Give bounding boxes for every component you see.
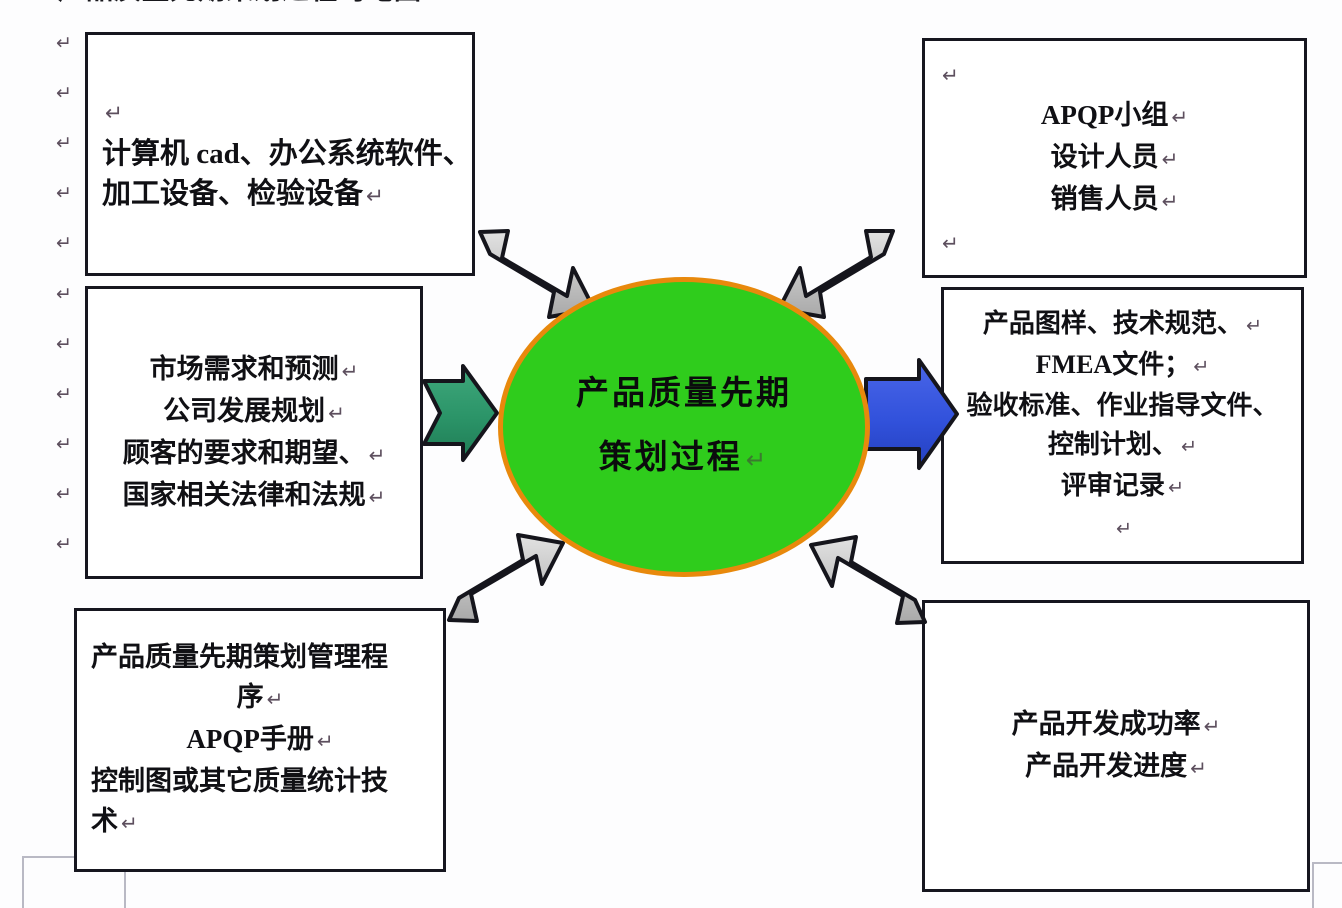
line-text: 产品图样、技术规范、	[983, 309, 1243, 338]
return-mark: ↵	[1187, 756, 1207, 780]
text-line: APQP手册↵	[91, 719, 429, 761]
box-inputs[interactable]: 市场需求和预测↵ 公司发展规划↵ 顾客的要求和期望、↵ 国家相关法律和法规↵	[85, 286, 423, 579]
box-people[interactable]: ↵ APQP小组↵ 设计人员↵ 销售人员↵ ↵	[922, 38, 1307, 278]
return-mark: ↵	[1159, 147, 1179, 171]
line-text: 计算机 cad、办公系统软件、	[102, 138, 472, 170]
return-mark: ↵	[102, 101, 123, 126]
return-mark: ↵	[1178, 435, 1197, 458]
line-text: 产品开发进度	[1025, 751, 1187, 781]
return-mark: ↵	[56, 132, 82, 154]
line-text: APQP小组	[1041, 100, 1169, 130]
line-text: FMEA文件；	[1036, 350, 1191, 379]
text-line: ↵	[939, 53, 1290, 95]
return-mark: ↵	[743, 445, 769, 474]
text-line: 公司发展规划↵	[102, 391, 406, 433]
diagram-canvas: 产品质量先期策划过程乌龟图 ↵ ↵ ↵ ↵ ↵ ↵ ↵ ↵ ↵ ↵ ↵ ↵ 计算…	[0, 0, 1342, 908]
line-text: 验收标准、作业指导文件、	[966, 391, 1278, 420]
return-mark: ↵	[1159, 189, 1179, 213]
line-text: 产品质量先期策划管理程	[91, 642, 388, 672]
return-mark: ↵	[264, 687, 284, 711]
return-mark: ↵	[56, 333, 82, 355]
box-outputs-text: 产品图样、技术规范、↵ FMEA文件；↵ 验收标准、作业指导文件、 控制计划、↵…	[944, 304, 1301, 548]
line-text: APQP手册	[186, 724, 314, 754]
text-line: 验收标准、作业指导文件、	[958, 386, 1287, 425]
line-text: 术	[91, 806, 118, 836]
text-line: 评审记录↵	[958, 466, 1287, 507]
return-mark: ↵	[1201, 714, 1221, 738]
text-line: 加工设备、检验设备↵	[102, 174, 458, 217]
line-text: 市场需求和预测	[150, 354, 339, 384]
return-mark: ↵	[1190, 355, 1209, 378]
return-mark: ↵	[363, 184, 384, 209]
return-mark: ↵	[56, 82, 82, 104]
line-text: 销售人员	[1051, 184, 1159, 214]
text-line: FMEA文件；↵	[958, 345, 1287, 386]
text-line: 控制计划、↵	[958, 425, 1287, 466]
return-mark: ↵	[56, 182, 82, 204]
return-mark: ↵	[56, 232, 82, 254]
box-resources-text: ↵ 计算机 cad、办公系统软件、 加工设备、检验设备↵	[88, 91, 472, 217]
return-mark: ↵	[366, 443, 386, 467]
return-mark: ↵	[56, 433, 82, 455]
text-line: ↵	[958, 507, 1287, 548]
return-mark: ↵	[56, 533, 82, 555]
line-text: 产品开发成功率	[1012, 709, 1201, 739]
return-mark: ↵	[56, 283, 82, 305]
box-measures-text: 产品开发成功率↵ 产品开发进度↵	[925, 704, 1307, 788]
process-ellipse[interactable]: 产品质量先期 策划过程↵	[498, 277, 870, 577]
return-mark: ↵	[1165, 476, 1184, 499]
ellipse-line-1: 产品质量先期	[576, 362, 792, 426]
text-line: 计算机 cad、办公系统软件、	[102, 134, 458, 174]
return-mark: ↵	[56, 383, 82, 405]
text-line: 顾客的要求和期望、↵	[102, 433, 406, 475]
return-mark: ↵	[1168, 105, 1188, 129]
text-line: 序↵	[91, 677, 429, 719]
text-line: 产品开发进度↵	[939, 746, 1293, 788]
box-procedures[interactable]: 产品质量先期策划管理程 序↵ APQP手册↵ 控制图或其它质量统计技 术↵	[74, 608, 446, 872]
box-measures[interactable]: 产品开发成功率↵ 产品开发进度↵	[922, 600, 1310, 892]
text-line: 销售人员↵	[939, 179, 1290, 221]
text-line: ↵	[102, 91, 458, 134]
box-people-text: ↵ APQP小组↵ 设计人员↵ 销售人员↵ ↵	[925, 53, 1304, 263]
return-mark: ↵	[939, 63, 959, 87]
text-line: 产品图样、技术规范、↵	[958, 304, 1287, 345]
return-mark: ↵	[325, 401, 345, 425]
text-line: APQP小组↵	[939, 95, 1290, 137]
line-text: 顾客的要求和期望、	[123, 438, 366, 468]
line-text: 评审记录	[1061, 471, 1165, 500]
text-line: 设计人员↵	[939, 137, 1290, 179]
return-mark: ↵	[339, 359, 359, 383]
line-text: 控制图或其它质量统计技	[91, 766, 388, 796]
line-text: 国家相关法律和法规	[123, 480, 366, 510]
box-inputs-text: 市场需求和预测↵ 公司发展规划↵ 顾客的要求和期望、↵ 国家相关法律和法规↵	[88, 349, 420, 517]
text-line: 控制图或其它质量统计技	[91, 761, 429, 801]
return-mark: ↵	[366, 485, 386, 509]
box-procedures-text: 产品质量先期策划管理程 序↵ APQP手册↵ 控制图或其它质量统计技 术↵	[77, 637, 443, 843]
return-mark: ↵	[56, 483, 82, 505]
text-line: 产品开发成功率↵	[939, 704, 1293, 746]
line-text: 序	[237, 682, 264, 712]
return-mark: ↵	[314, 729, 334, 753]
arrow-measures-to-process	[811, 537, 925, 623]
text-line: 产品质量先期策划管理程	[91, 637, 429, 677]
return-mark: ↵	[1243, 314, 1262, 337]
page-title-strip: 产品质量先期策划过程乌龟图	[58, 0, 678, 6]
arrow-procedures-to-process	[449, 535, 563, 621]
line-text: 策划过程	[599, 440, 743, 476]
box-resources[interactable]: ↵ 计算机 cad、办公系统软件、 加工设备、检验设备↵	[85, 32, 475, 276]
text-line: 术↵	[91, 801, 429, 843]
return-mark: ↵	[939, 231, 959, 255]
box-outputs[interactable]: 产品图样、技术规范、↵ FMEA文件；↵ 验收标准、作业指导文件、 控制计划、↵…	[941, 287, 1304, 564]
return-mark: ↵	[1113, 517, 1132, 540]
line-text: 控制计划、	[1048, 430, 1178, 459]
line-text: 公司发展规划	[163, 396, 325, 426]
return-mark: ↵	[118, 811, 138, 835]
text-line: ↵	[939, 221, 1290, 263]
return-mark: ↵	[56, 32, 82, 54]
text-line: 市场需求和预测↵	[102, 349, 406, 391]
arrow-people-to-process	[779, 231, 893, 317]
text-line: 国家相关法律和法规↵	[102, 475, 406, 517]
line-text: 加工设备、检验设备	[102, 178, 363, 210]
ghost-frame-bottom-right	[1312, 862, 1342, 908]
ellipse-line-2: 策划过程↵	[599, 426, 769, 492]
line-text: 设计人员	[1051, 142, 1159, 172]
arrow-input-to-process	[424, 366, 497, 460]
